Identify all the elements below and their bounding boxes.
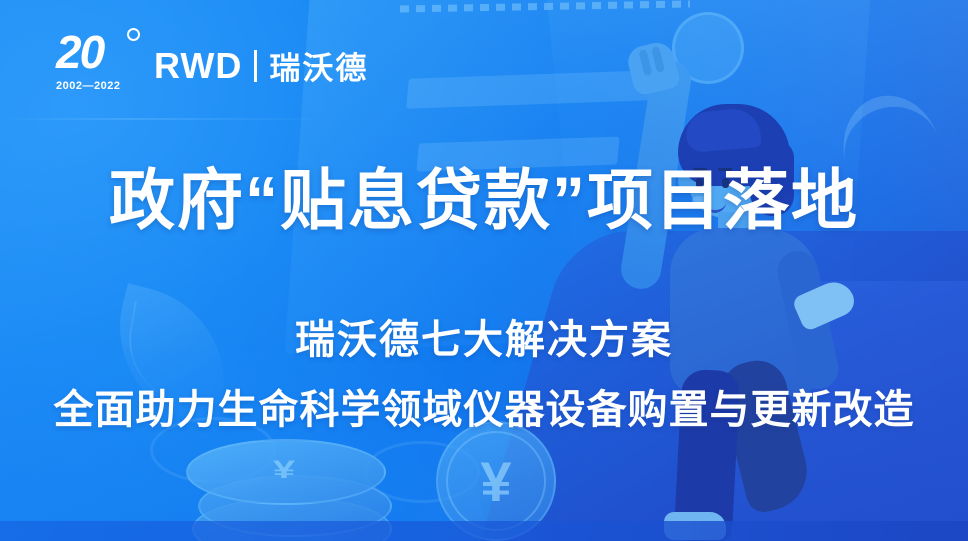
- brand-chinese-name: 瑞沃德: [269, 43, 368, 88]
- person-illustration: [600, 0, 968, 541]
- degree-circle-icon: [127, 28, 140, 41]
- subtitle-line-one: 瑞沃德七大解决方案: [0, 307, 968, 365]
- anniversary-number: 20: [56, 26, 138, 78]
- coin-stack-yuan-icon: ¥: [186, 451, 382, 489]
- logo-divider-icon: [254, 50, 257, 82]
- horizon-line: [0, 118, 330, 120]
- page-title: 政府“贴息贷款”项目落地: [0, 166, 968, 235]
- coin-upright-yuan-icon: ¥: [446, 431, 546, 531]
- brand-latin-name: RWD: [154, 45, 242, 87]
- promo-banner: ¥ ¥ 20 2002—2022 RWD 瑞沃德 政府“贴息贷款”项目落地 瑞沃…: [0, 0, 968, 541]
- anniversary-mark: 20 2002—2022: [56, 26, 138, 100]
- subtitle-line-two: 全面助力生命科学领域仪器设备购置与更新改造: [0, 377, 968, 435]
- bottom-strip: [0, 521, 968, 541]
- brand-logo[interactable]: 20 2002—2022 RWD 瑞沃德: [56, 26, 368, 100]
- brand-wordmark: RWD 瑞沃德: [154, 43, 368, 88]
- anniversary-years: 2002—2022: [56, 80, 142, 92]
